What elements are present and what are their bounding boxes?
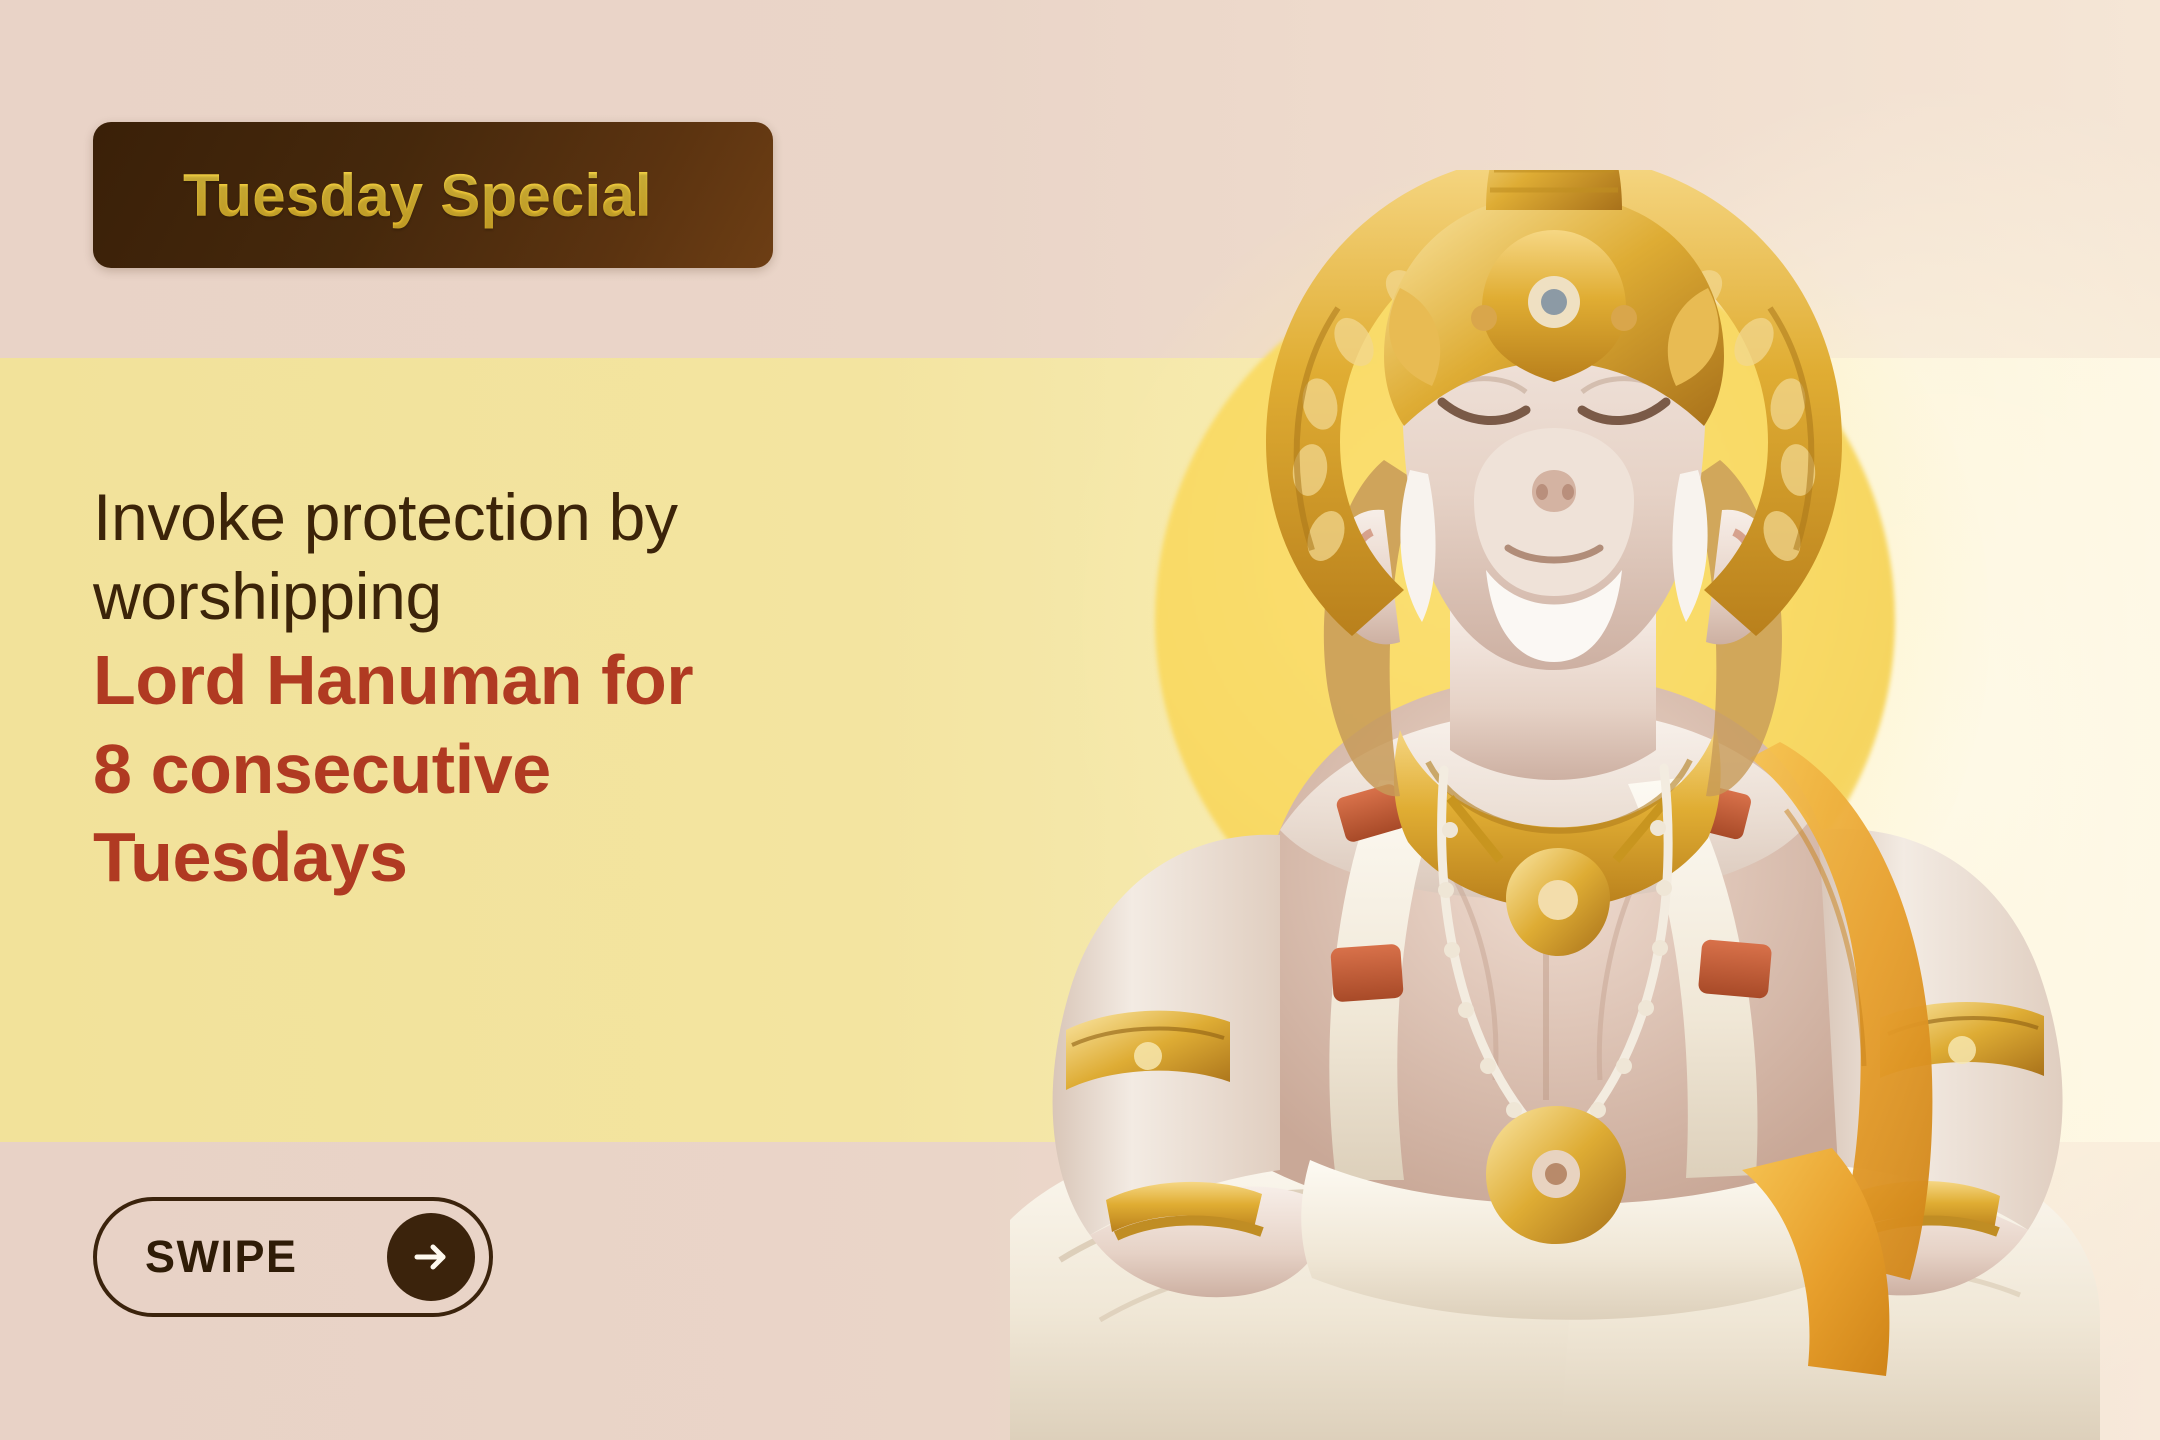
headline-line-3: Lord Hanuman for (93, 636, 993, 724)
badge-label: Tuesday Special (183, 161, 652, 230)
swipe-button-label: SWIPE (145, 1231, 298, 1283)
headline-block: Invoke protection by worshipping Lord Ha… (93, 478, 993, 901)
promo-card: Tuesday Special Invoke protection by wor… (0, 0, 2160, 1440)
arrow-right-icon[interactable] (387, 1213, 475, 1301)
headline-line-2: worshipping (93, 557, 993, 636)
headline-line-5: Tuesdays (93, 813, 993, 901)
headline-line-4: 8 consecutive (93, 725, 993, 813)
hanuman-illustration (980, 170, 2160, 1440)
tuesday-special-badge: Tuesday Special (93, 122, 773, 268)
swipe-button[interactable]: SWIPE (93, 1197, 493, 1317)
headline-line-1: Invoke protection by (93, 478, 993, 557)
